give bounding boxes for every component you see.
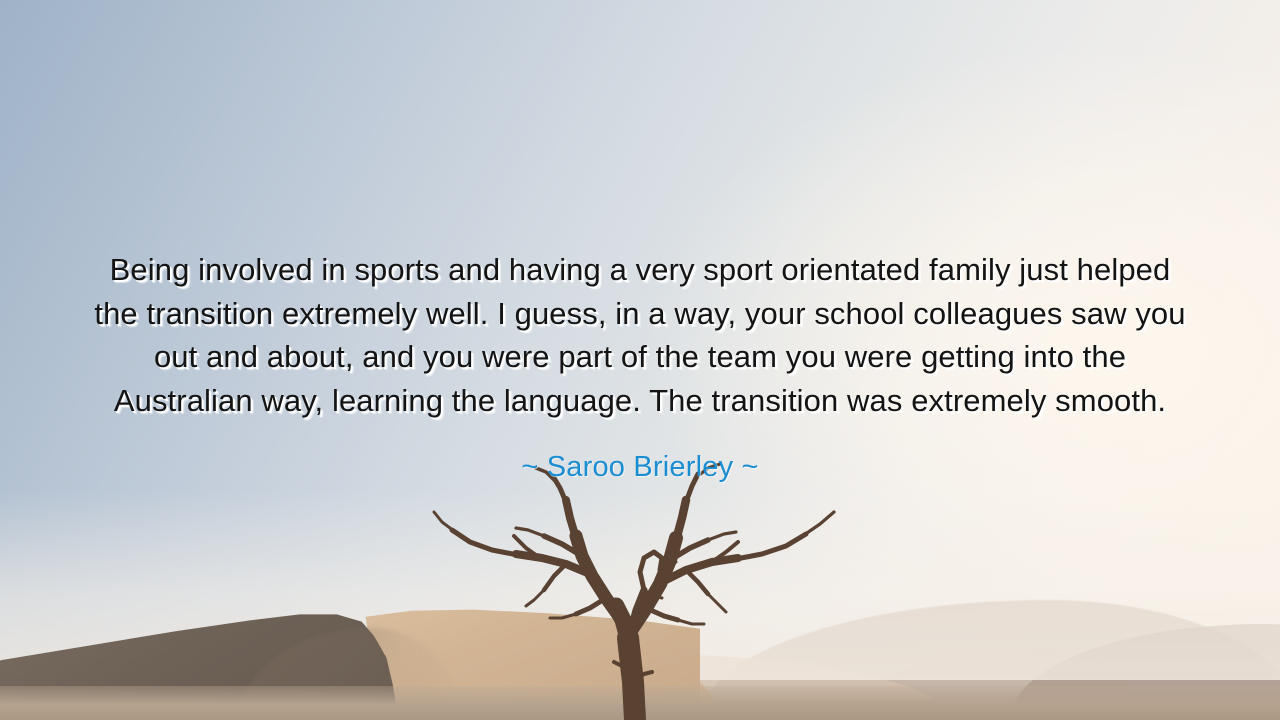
quote-block: Being involved in sports and having a ve… (0, 248, 1280, 485)
quote-author: ~ Saroo Brierley ~ (88, 449, 1192, 485)
quote-image-canvas: Being involved in sports and having a ve… (0, 0, 1280, 720)
dead-tree-illustration (430, 460, 850, 720)
quote-text: Being involved in sports and having a ve… (88, 248, 1192, 422)
